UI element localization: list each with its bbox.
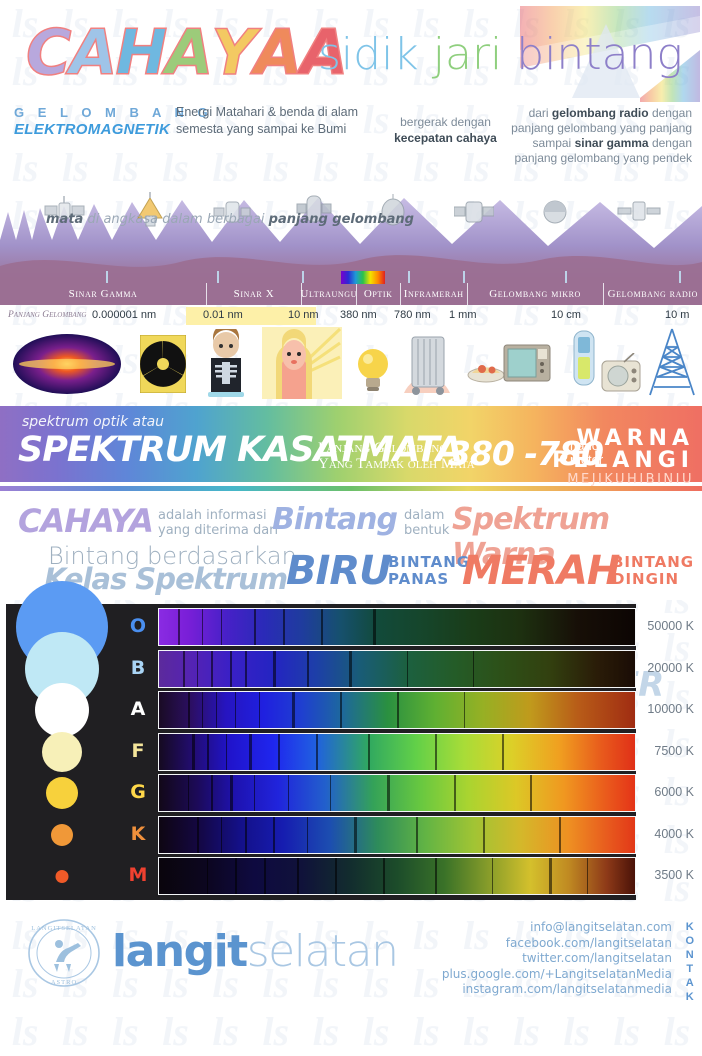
intro-column-3: bergerak dengan kecepatan cahaya (388, 114, 503, 146)
warna-line1: WARNA (552, 428, 694, 450)
wavelength-value-3: 380 nm (340, 309, 377, 321)
s2-line1: adalah informasi (158, 508, 278, 523)
temperature-B: 20000 K (647, 661, 694, 675)
spectrum-row-M[interactable] (158, 857, 636, 895)
star-circle-M (56, 870, 69, 883)
statement-bentuk-note: dalam bentuk (404, 508, 449, 538)
temperature-G: 6000 K (654, 785, 694, 799)
subtitle-part-0: sidik (318, 29, 433, 80)
warna-line2: PELANGI (552, 450, 694, 472)
contact-link-3[interactable]: plus.google.com/+LangitselatanMedia (442, 967, 672, 983)
statement-cahaya: CAHAYA (18, 502, 153, 540)
statement-biru: BIRU (286, 548, 391, 594)
mobile-phone-icon (566, 329, 602, 389)
wavelength-scale-row: Panjang Gelombang 0.000001 nm0.01 nm10 n… (0, 307, 702, 325)
statement-info-note: adalah informasi yang diterima dari (158, 508, 278, 538)
tick-7 (679, 271, 681, 283)
s4-line1: dalam (404, 508, 449, 523)
rainbow-divider (0, 486, 702, 491)
absorption-lines (159, 609, 635, 645)
spectrum-row-K[interactable] (158, 816, 636, 854)
s11-line2: DINGIN (612, 571, 694, 588)
wavelength-value-0: 0.000001 nm (92, 309, 156, 321)
intro-c3-plain: bergerak dengan (400, 115, 491, 129)
langitselatan-seal-icon: LANGITSELATAN ASTRO (26, 918, 102, 988)
light-bulb-icon (354, 343, 392, 393)
title-letter-5: A (254, 22, 300, 84)
absorption-lines (159, 651, 635, 687)
svg-text:ASTRO: ASTRO (51, 979, 77, 986)
intro-c3-bold: kecepatan cahaya (394, 131, 497, 145)
absorption-lines (159, 692, 635, 728)
em-band-optik[interactable]: Optik (357, 283, 401, 305)
spectrum-row-F[interactable] (158, 733, 636, 771)
contact-link-2[interactable]: twitter.com/langitselatan (442, 951, 672, 967)
subtitle-part-2: bintang (516, 29, 683, 80)
absorption-lines (159, 817, 635, 853)
star-size-column (6, 604, 118, 900)
title-letter-2: H (116, 22, 166, 84)
spectrum-row-O[interactable] (158, 608, 636, 646)
title-letter-0: C (26, 22, 70, 84)
television-icon (600, 353, 646, 395)
logo-light: selatan (247, 926, 398, 977)
optical-rainbow-swatch (341, 271, 385, 284)
satellite-icon (454, 196, 494, 228)
title-letter-1: A (70, 22, 116, 84)
spectral-class-chart: OBAFGKM 50000 K20000 K10000 K7500 K6000 … (0, 604, 702, 906)
radio-tower-icon (644, 327, 700, 397)
wavelength-value-1: 0.01 nm (203, 309, 243, 321)
star-circle-G (46, 777, 78, 809)
tick-6 (565, 271, 567, 283)
subtitle-part-1: jari (433, 29, 517, 80)
visible-band-line1: spektrum optik atau (22, 414, 164, 430)
s2-line2: yang diterima dari (158, 523, 278, 538)
class-letter-F: F (118, 740, 158, 762)
heater-radiator-icon (400, 331, 454, 397)
header: CAHAYAA sidik jari bintang (0, 0, 702, 98)
temperature-O: 50000 K (647, 619, 694, 633)
temperature-K: 4000 K (654, 827, 694, 841)
temperature-A: 10000 K (647, 702, 694, 716)
contact-link-1[interactable]: facebook.com/langitselatan (442, 936, 672, 952)
em-band-inframerah[interactable]: Inframerah (401, 283, 468, 305)
tick-2 (302, 271, 304, 283)
tick-5 (463, 271, 465, 283)
statement-bintang-dingin: BINTANG DINGIN (612, 554, 694, 588)
visible-spectrum-band: spektrum optik atau SPEKTRUM KASATMATA P… (0, 406, 702, 482)
intro-text-block: G E L O M B A N G ELEKTROMAGNETIK Energi… (0, 100, 702, 172)
star-circle-K (51, 824, 73, 846)
spectrum-row-G[interactable] (158, 774, 636, 812)
page-subtitle: sidik jari bintang (318, 30, 683, 80)
svg-text:LANGITSELATAN: LANGITSELATAN (31, 925, 97, 932)
page-title: CAHAYAA (26, 22, 346, 84)
spectra-rows (158, 608, 636, 899)
s11-line1: BINTANG (612, 554, 694, 571)
em-band-ultraungu[interactable]: Ultraungu (302, 283, 357, 305)
absorption-lines (159, 734, 635, 770)
em-label-line2: ELEKTROMAGNETIK (14, 123, 170, 137)
logo-bold: langit (112, 926, 247, 977)
class-letter-B: B (118, 657, 158, 679)
s9-line1: BINTANG (388, 554, 470, 571)
tick-4 (408, 271, 410, 283)
statement-bintang: Bintang (272, 502, 397, 537)
wavelength-value-7: 10 m (665, 309, 689, 321)
temperature-labels: 50000 K20000 K10000 K7500 K6000 K4000 K3… (640, 604, 702, 900)
contact-link-0[interactable]: info@langitselatan.com (442, 920, 672, 936)
radiation-hazard-icon (140, 335, 186, 393)
class-letter-O: O (118, 615, 158, 637)
sunbathing-woman-icon (262, 327, 342, 399)
statement-bintang-panas: BINTANG PANAS (388, 554, 470, 588)
em-band-gelombang-mikro[interactable]: Gelombang mikro (468, 283, 604, 305)
spectrum-row-B[interactable] (158, 650, 636, 688)
absorption-lines (159, 775, 635, 811)
temperature-M: 3500 K (654, 868, 694, 882)
temperature-F: 7500 K (654, 744, 694, 758)
wavelength-value-5: 1 mm (449, 309, 477, 321)
satellite-icon (536, 194, 574, 228)
footer: LANGITSELATAN ASTRO langitselatan info@l… (0, 906, 702, 1000)
wavelength-value-6: 10 cm (551, 309, 581, 321)
spectrum-row-A[interactable] (158, 691, 636, 729)
langitselatan-logo[interactable]: langitselatan (112, 928, 398, 976)
wavelength-value-2: 10 nm (288, 309, 319, 321)
waves-caption: mata di angkasa dalam berbagai panjang g… (46, 212, 414, 227)
spectral-class-letters: OBAFGKM (118, 604, 158, 900)
em-band-sinar-gamma[interactable]: Sinar Gamma (0, 283, 207, 305)
em-band-gelombang-radio[interactable]: Gelombang radio (604, 283, 702, 305)
statement-merah: MERAH (462, 548, 619, 594)
source-icons-row: SUMBER (0, 327, 702, 401)
star-circle-A (35, 683, 89, 737)
gamma-sky-map-icon (12, 333, 122, 395)
intro-column-2: Energi Matahari & benda di alam semesta … (176, 104, 376, 138)
em-band-sinar-x[interactable]: Sinar X (207, 283, 302, 305)
star-circle-F (42, 732, 82, 772)
em-spectrum-bar: Sinar GammaSinar XUltraunguOptikInframer… (0, 283, 702, 305)
class-letter-K: K (118, 823, 158, 845)
wavelength-axis-label: Panjang Gelombang (8, 310, 86, 320)
title-letter-4: Y (211, 22, 254, 84)
absorption-lines (159, 858, 635, 894)
intro-column-4: dari gelombang radio dengan panjang gelo… (510, 106, 692, 166)
kontak-vertical-label: KONTAK (685, 920, 694, 1004)
xray-body-icon (198, 329, 254, 399)
contact-list: info@langitselatan.comfacebook.com/langi… (442, 920, 672, 998)
statement-block: CAHAYA adalah informasi yang diterima da… (0, 486, 702, 600)
tick-1 (217, 271, 219, 283)
class-letter-A: A (118, 698, 158, 720)
wavelength-value-4: 780 nm (394, 309, 431, 321)
s9-line2: PANAS (388, 571, 470, 588)
microwave-oven-icon (466, 341, 552, 387)
s4-line2: bentuk (404, 523, 449, 538)
class-letter-M: M (118, 864, 158, 886)
satellite-icon (617, 194, 661, 228)
rainbow-colors-label: WARNA PELANGI MEJIKUHIBINIU (552, 428, 694, 488)
contact-link-4[interactable]: instagram.com/langitselatanmedia (442, 982, 672, 998)
title-letter-3: A (165, 22, 211, 84)
tick-0 (106, 271, 108, 283)
class-letter-G: G (118, 781, 158, 803)
